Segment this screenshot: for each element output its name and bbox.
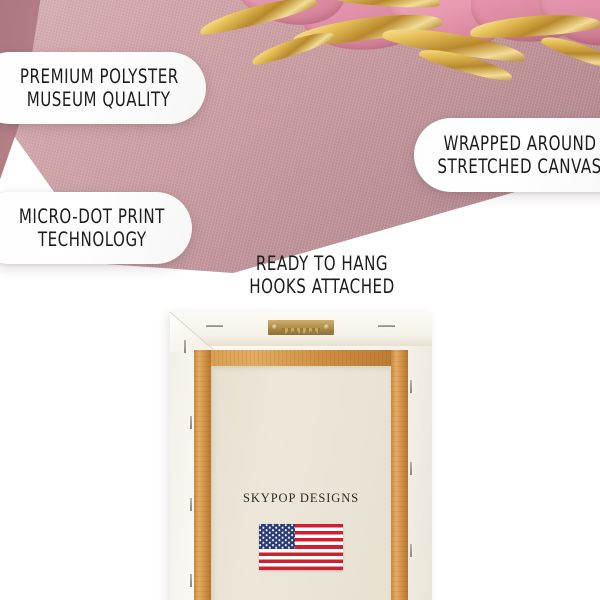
staple <box>190 574 192 587</box>
feature-caption-ready-to-hang: READY TO HANG HOOKS ATTACHED <box>232 252 412 299</box>
caption-line-1: READY TO HANG <box>245 252 400 275</box>
stretcher-bar-left <box>194 350 211 600</box>
product-feature-image: SKYPOP DESIGNS PREMIUM POLYSTER MUSEUM Q… <box>0 0 600 600</box>
staple <box>410 380 412 393</box>
hanger-screw <box>324 324 330 330</box>
stretcher-bar-right <box>391 350 408 600</box>
staple <box>378 325 395 327</box>
feature-badge-micro-dot-print: MICRO-DOT PRINT TECHNOLOGY <box>0 192 192 264</box>
badge-line-1: MICRO-DOT PRINT <box>19 205 165 228</box>
sawtooth-hanger-icon <box>268 320 334 335</box>
flag-canton <box>259 524 295 549</box>
staple <box>410 462 412 475</box>
badge-line-2: STRETCHED CANVAS <box>438 155 600 178</box>
flag-stars <box>259 524 295 549</box>
staple <box>410 544 412 557</box>
staple <box>184 340 186 353</box>
feature-badge-wrapped-around: WRAPPED AROUND STRETCHED CANVAS <box>414 118 600 192</box>
feature-badge-premium-polyster: PREMIUM POLYSTER MUSEUM QUALITY <box>0 52 206 124</box>
brand-label: SKYPOP DESIGNS <box>170 491 432 506</box>
badge-line-1: WRAPPED AROUND <box>443 132 596 155</box>
badge-line-2: MUSEUM QUALITY <box>27 88 171 111</box>
stretcher-bar-top <box>194 350 408 366</box>
badge-line-1: PREMIUM POLYSTER <box>20 65 179 88</box>
hanger-screw <box>272 324 278 330</box>
staple <box>206 325 223 327</box>
staple <box>190 416 192 429</box>
badge-line-2: TECHNOLOGY <box>38 228 147 251</box>
canvas-corner-fold-line <box>170 312 216 354</box>
united-states-flag-icon <box>259 524 343 570</box>
caption-line-2: HOOKS ATTACHED <box>245 275 400 298</box>
gold-accent <box>250 27 336 68</box>
canvas-back-panel: SKYPOP DESIGNS <box>170 312 432 600</box>
